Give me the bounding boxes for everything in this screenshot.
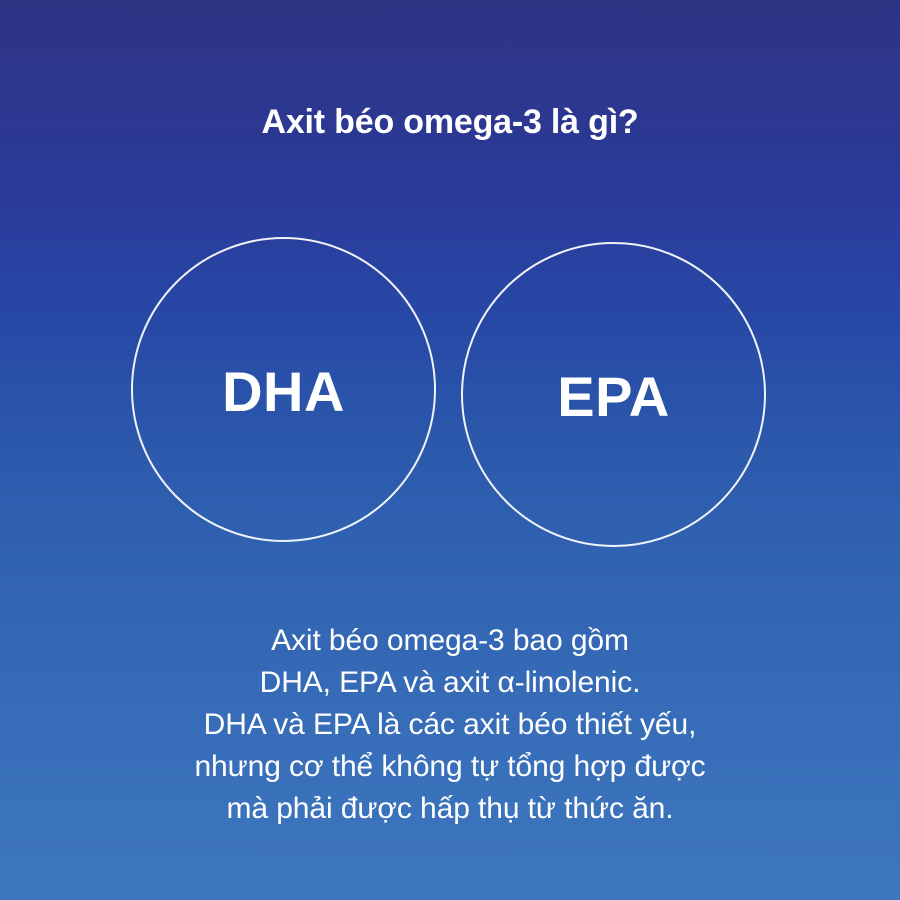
omega3-infographic: Axit béo omega-3 là gì? DHA EPA Axit béo… bbox=[0, 0, 900, 900]
body-line-2: DHA, EPA và axit α-linolenic. bbox=[0, 662, 900, 704]
body-line-5: mà phải được hấp thụ từ thức ăn. bbox=[0, 788, 900, 830]
circle-dha: DHA bbox=[131, 237, 436, 542]
circle-epa: EPA bbox=[461, 242, 766, 547]
body-line-4: nhưng cơ thể không tự tổng hợp được bbox=[0, 746, 900, 788]
circle-dha-label: DHA bbox=[222, 364, 345, 420]
body-paragraph: Axit béo omega-3 bao gồm DHA, EPA và axi… bbox=[0, 620, 900, 830]
circle-epa-label: EPA bbox=[557, 369, 670, 425]
body-line-1: Axit béo omega-3 bao gồm bbox=[0, 620, 900, 662]
body-line-3: DHA và EPA là các axit béo thiết yếu, bbox=[0, 704, 900, 746]
